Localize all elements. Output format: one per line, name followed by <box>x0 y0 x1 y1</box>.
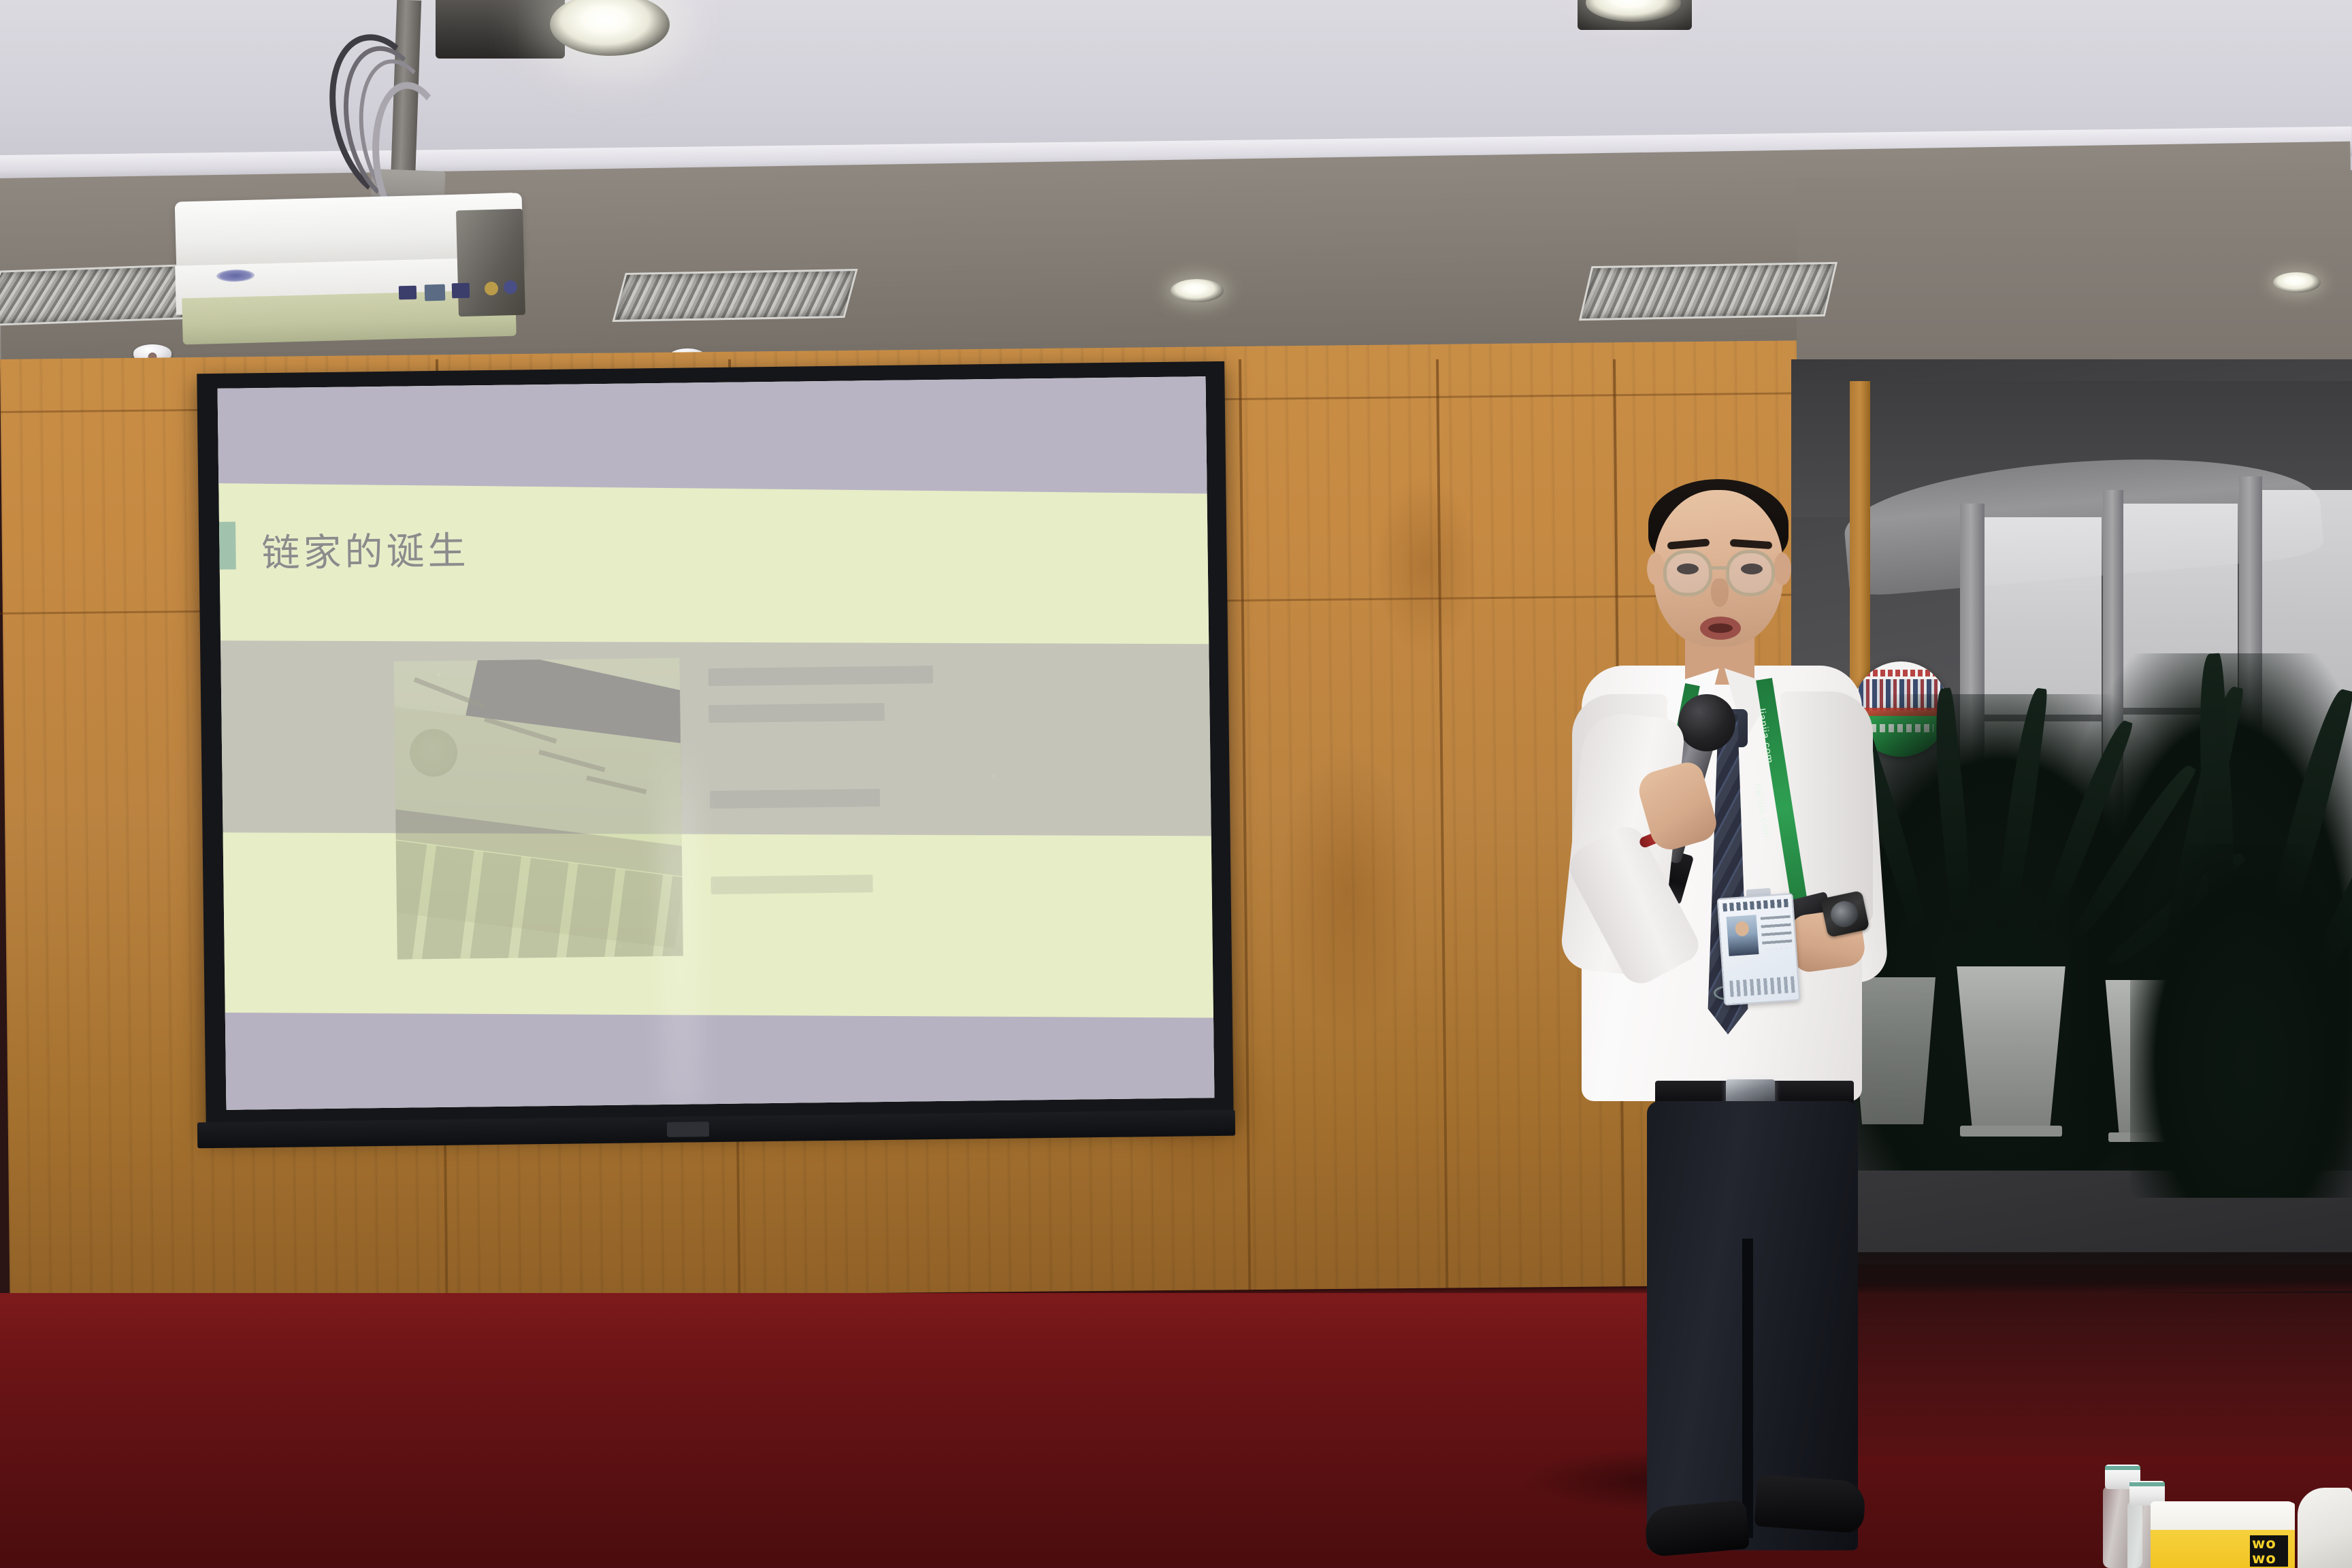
ceiling-spotlight-icon <box>1171 279 1224 302</box>
projector-port <box>425 284 446 301</box>
microphone-icon[interactable] <box>1678 694 1735 751</box>
wall-stain <box>1374 476 1478 654</box>
ceiling-spotlight-icon <box>2273 272 2321 293</box>
trouser-leg-gap <box>1742 1239 1753 1538</box>
screen-texture <box>218 376 1215 1110</box>
eyeglasses-icon <box>1726 550 1775 596</box>
plant-pot-base <box>1960 1126 2062 1137</box>
snack-brand-logo: wowo <box>2250 1535 2288 1567</box>
badge-portrait-photo <box>1727 915 1759 956</box>
badge-header-text <box>1722 899 1790 912</box>
projector-port <box>452 283 470 299</box>
projection-screen-surface: 链家的诞生 <box>218 376 1215 1110</box>
presenter-shoe <box>1644 1500 1750 1558</box>
screen-glare <box>657 736 703 1105</box>
hvac-vent-icon <box>1579 262 1837 321</box>
projector-port <box>399 286 417 300</box>
presenter-nose <box>1711 578 1729 607</box>
ceiling-right-section <box>1797 178 2352 382</box>
projector-lens <box>456 209 525 317</box>
eyeglasses-bridge <box>1712 566 1727 570</box>
badge-footer-text <box>1729 976 1795 997</box>
eyeglasses-icon <box>1663 550 1712 596</box>
hvac-vent-icon <box>612 269 857 322</box>
badge-detail-lines <box>1761 915 1793 950</box>
photo-scene: 链家的诞生 <box>0 0 2352 1568</box>
presenter-ear <box>1774 553 1791 585</box>
presenter-ear <box>1647 553 1665 585</box>
white-napkin <box>2298 1488 2352 1568</box>
snack-package-top <box>2151 1501 2295 1530</box>
potted-palm-foliage <box>2130 844 2352 1198</box>
id-badge <box>1717 893 1801 1005</box>
spotlight-housing <box>436 0 565 59</box>
wall-stain <box>1278 748 1417 1035</box>
presenter: lianjia.com lianjia.com lianjia.com lian… <box>1552 490 1906 1552</box>
presenter-shoe <box>1754 1475 1867 1534</box>
presenter-mouth <box>1700 617 1741 640</box>
